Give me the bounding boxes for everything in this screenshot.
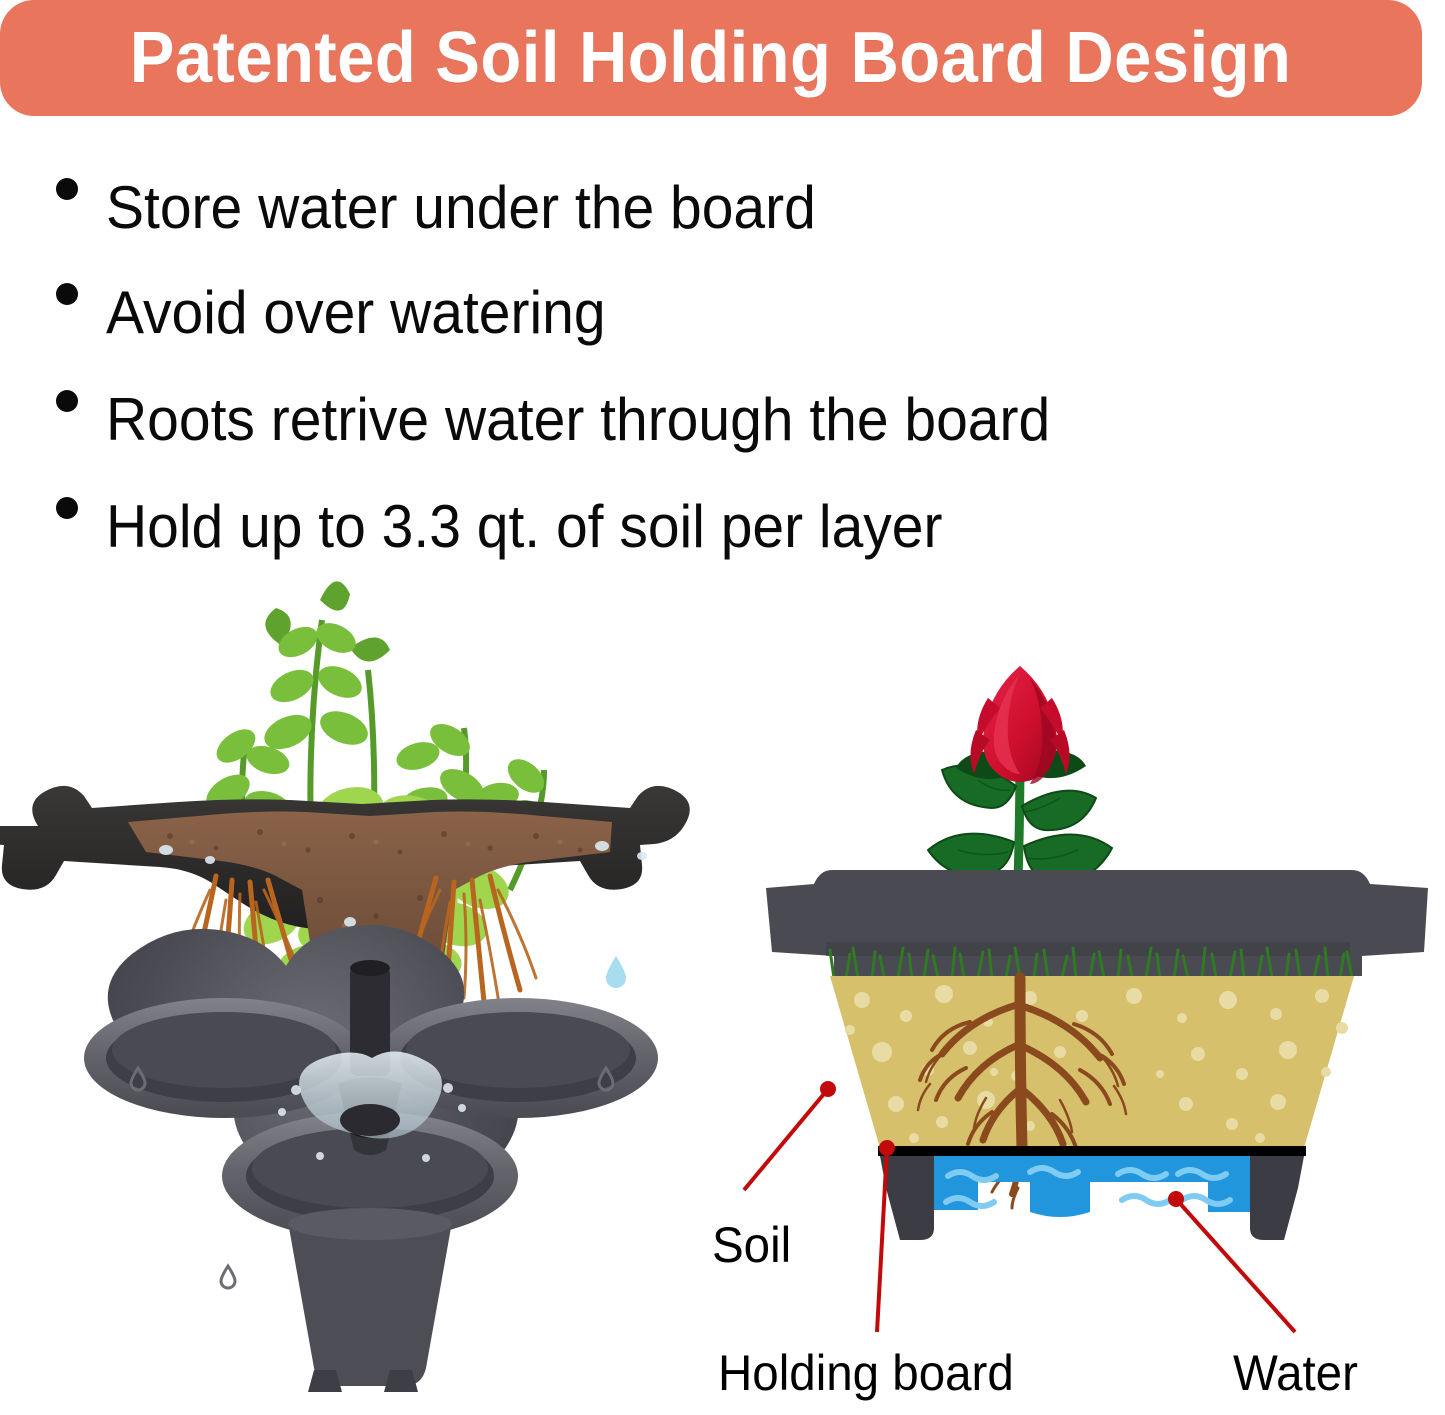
stacking-planter-pot <box>84 925 658 1392</box>
feature-label: Store water under the board <box>106 178 816 238</box>
label-water: Water <box>1233 1348 1358 1398</box>
bullet-icon <box>56 497 78 519</box>
list-item: Hold up to 3.3 qt. of soil per layer <box>56 497 987 557</box>
feature-label: Hold up to 3.3 qt. of soil per layer <box>106 497 942 557</box>
rose-plant <box>928 666 1112 882</box>
holding-board-line <box>878 1146 1306 1156</box>
bullet-icon <box>56 283 78 305</box>
bullet-icon <box>56 178 78 200</box>
page-title: Patented Soil Holding Board Design <box>130 22 1292 94</box>
list-item: Avoid over watering <box>56 283 632 343</box>
label-soil: Soil <box>712 1220 791 1270</box>
pot-rim <box>766 870 1428 976</box>
soil-layer <box>830 976 1354 1148</box>
list-item: Store water under the board <box>56 178 853 238</box>
water-reservoir <box>934 1156 1250 1217</box>
header-banner: Patented Soil Holding Board Design <box>0 0 1422 116</box>
label-holding-board: Holding board <box>718 1348 1014 1398</box>
feature-label: Avoid over watering <box>106 283 606 343</box>
pot-base <box>288 1208 452 1392</box>
cross-section-diagram <box>730 660 1445 1240</box>
feature-label: Roots retrive water through the board <box>106 390 1050 450</box>
bullet-icon <box>56 390 78 412</box>
list-item: Roots retrive water through the board <box>56 390 1100 450</box>
stackable-planter-photo <box>20 560 720 1410</box>
